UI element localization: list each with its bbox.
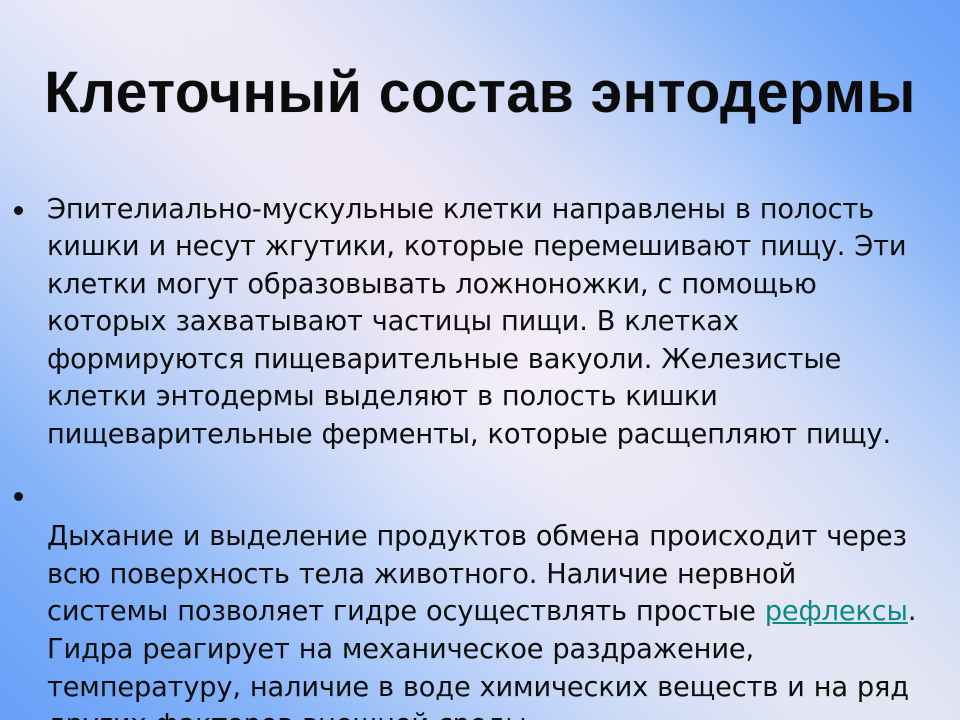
reflexes-hyperlink[interactable]: рефлексы [765,595,908,627]
bullet-item-1: Эпителиально-мускульные клетки направлен… [0,191,960,454]
bullet-paragraph-2: Дыхание и выделение продуктов обмена про… [47,481,923,720]
presentation-slide: Клеточный состав энтодермы Эпителиально-… [0,0,960,720]
bullet-item-2: Дыхание и выделение продуктов обмена про… [0,481,960,720]
bullet-marker-icon [14,492,23,501]
bullet-marker-icon [14,206,23,215]
slide-content: Клеточный состав энтодермы Эпителиально-… [0,0,960,720]
slide-title: Клеточный состав энтодермы [7,58,953,128]
bullet-paragraph-1: Эпителиально-мускульные клетки направлен… [47,191,923,454]
slide-body: Эпителиально-мускульные клетки направлен… [0,163,960,720]
